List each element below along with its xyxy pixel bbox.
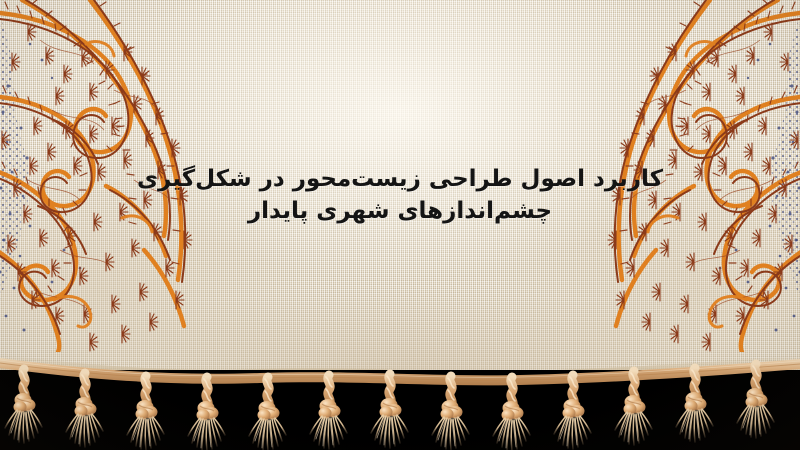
title-card: کاربرد اصول طراحی زیست‌محور در شکل‌گیری … bbox=[0, 0, 800, 450]
ornament-right bbox=[591, 0, 800, 352]
tassel-fringe bbox=[0, 352, 800, 450]
ornament-left bbox=[0, 0, 209, 352]
